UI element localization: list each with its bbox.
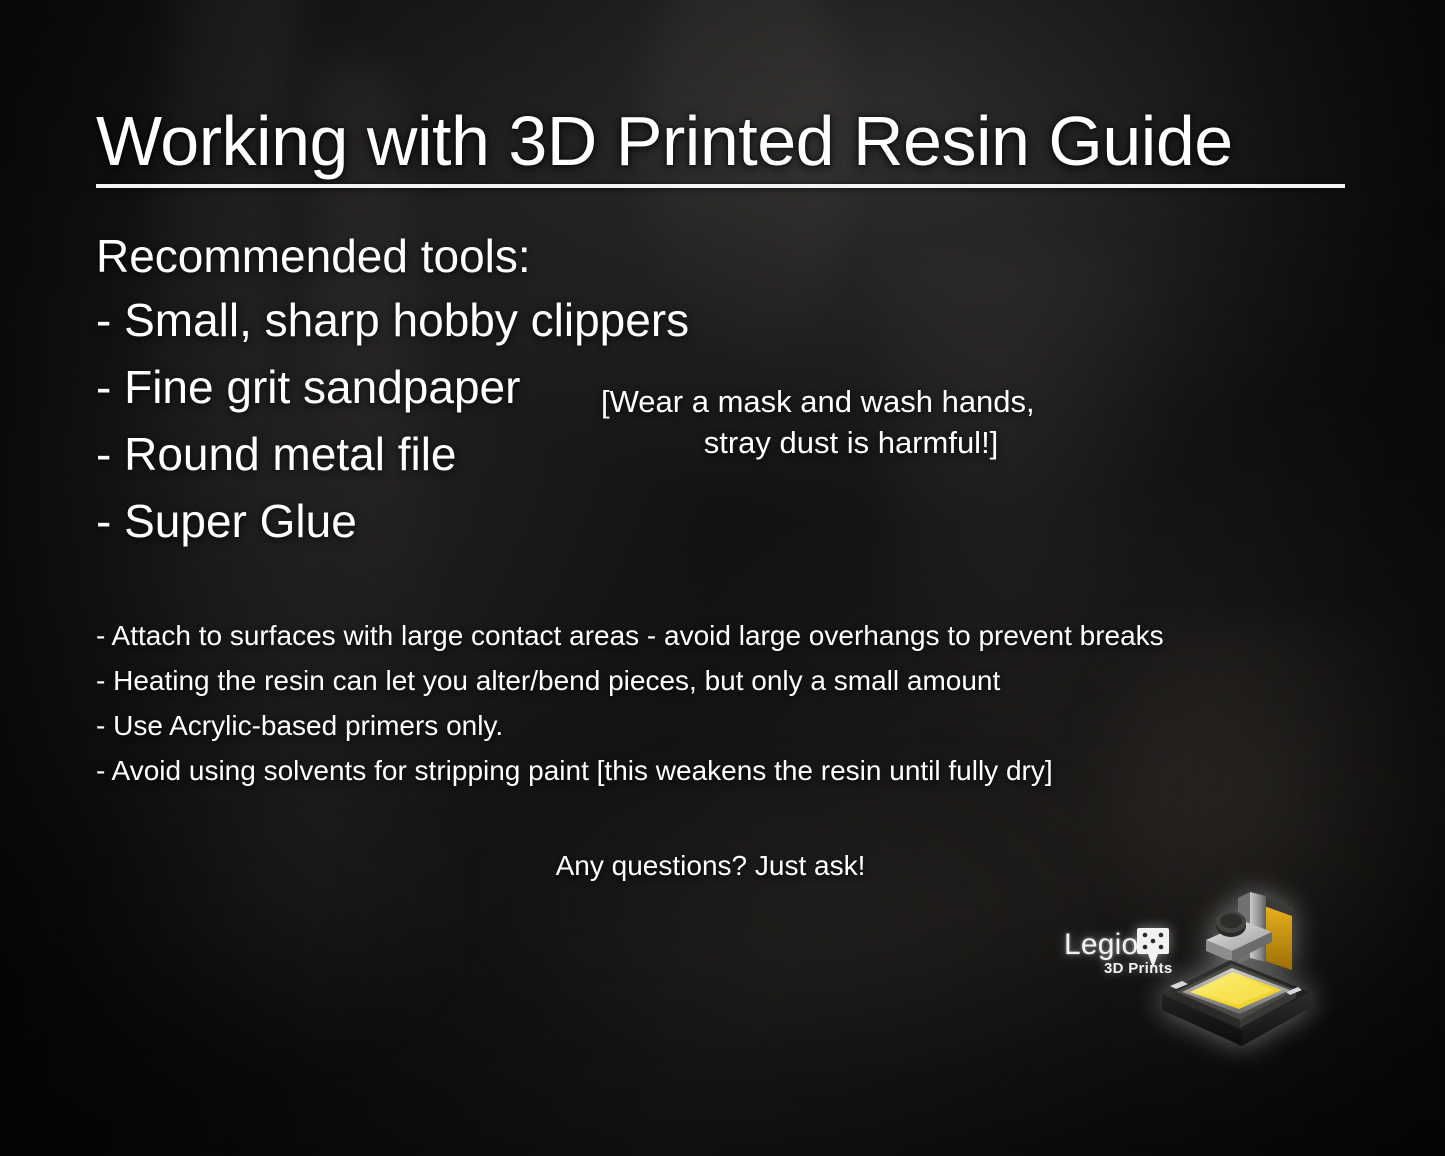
closing-question-text: Any questions? Just ask!: [556, 850, 866, 881]
list-item: - Use Acrylic-based primers only.: [96, 712, 1164, 740]
list-item: - Super Glue: [96, 498, 689, 544]
title-underline: [96, 184, 1345, 188]
list-item: - Attach to surfaces with large contact …: [96, 622, 1164, 650]
list-item: - Heating the resin can let you alter/be…: [96, 667, 1164, 695]
resin-3d-printer-icon: [1146, 882, 1326, 1052]
safety-warning-line-1: [Wear a mask and wash hands,: [601, 382, 1101, 423]
safety-warning-note: [Wear a mask and wash hands, stray dust …: [601, 382, 1101, 464]
closing-question: Any questions? Just ask!: [0, 850, 1445, 882]
list-item: - Avoid using solvents for stripping pai…: [96, 757, 1164, 785]
brand-logo: Legion 3D Prints: [1058, 882, 1358, 1052]
list-item: - Small, sharp hobby clippers: [96, 297, 689, 343]
recommended-tools-heading: Recommended tools:: [96, 229, 531, 283]
tips-list: - Attach to surfaces with large contact …: [96, 622, 1164, 802]
slide-canvas: Working with 3D Printed Resin Guide Reco…: [0, 0, 1445, 1156]
safety-warning-line-2: stray dust is harmful!]: [601, 423, 1101, 464]
slide-content: Working with 3D Printed Resin Guide Reco…: [0, 0, 1445, 1156]
page-title: Working with 3D Printed Resin Guide: [96, 105, 1356, 179]
